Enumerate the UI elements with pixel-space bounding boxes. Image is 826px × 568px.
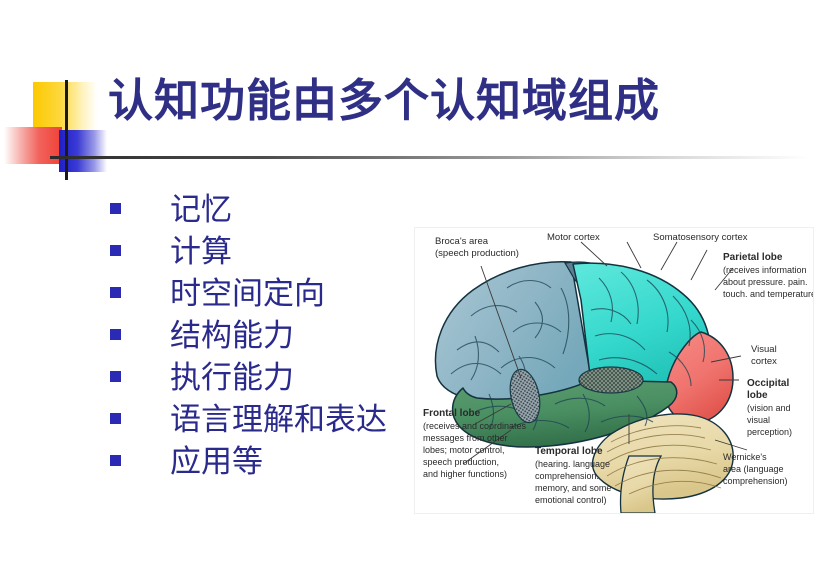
temporal-lobe-desc-4: emotional control)	[535, 495, 607, 505]
parietal-lobe-label: Parietal lobe	[723, 252, 783, 263]
list-item-label: 语言理解和表达	[170, 400, 387, 440]
bullet-square-icon	[110, 371, 121, 382]
list-item: 时空间定向	[110, 274, 410, 316]
bullet-square-icon	[110, 455, 121, 466]
ornament-blue-block	[59, 130, 107, 172]
occipital-lobe-label-2: lobe	[747, 390, 768, 401]
slide-canvas: 认知功能由多个认知域组成 记忆 计算 时空间定向 结构能力 执行能力 语言理解和…	[0, 0, 826, 568]
frontal-lobe-desc-2: messages from other	[423, 433, 508, 443]
bullet-square-icon	[110, 329, 121, 340]
bullet-square-icon	[110, 203, 121, 214]
list-item: 执行能力	[110, 358, 410, 400]
bullet-square-icon	[110, 245, 121, 256]
title-underline-rule	[50, 156, 810, 159]
list-item-label: 计算	[170, 232, 232, 272]
somatosensory-cortex-label: Somatosensory cortex	[653, 232, 748, 243]
occipital-lobe-desc-2: visual	[747, 415, 770, 425]
motor-cortex-label: Motor cortex	[547, 232, 600, 243]
ornament-vertical-rule	[65, 80, 68, 180]
visual-cortex-label-1: Visual	[751, 344, 777, 355]
wernickes-area-label-2: area (language	[723, 464, 784, 474]
occipital-lobe-label-1: Occipital	[747, 378, 789, 389]
list-item-label: 应用等	[170, 442, 263, 482]
bullet-square-icon	[110, 413, 121, 424]
frontal-lobe-desc-5: and higher functions)	[423, 469, 507, 479]
frontal-lobe-label: Frontal lobe	[423, 408, 481, 419]
parietal-lobe-desc-2: about pressure. pain.	[723, 277, 808, 287]
list-item: 记忆	[110, 190, 410, 232]
occipital-lobe-desc-1: (vision and	[747, 403, 791, 413]
temporal-lobe-desc-3: memory, and some	[535, 483, 611, 493]
list-item: 应用等	[110, 442, 410, 484]
list-item-label: 时空间定向	[170, 274, 325, 314]
list-item: 结构能力	[110, 316, 410, 358]
wernickes-area-label-1: Wernicke's	[723, 452, 767, 462]
brocas-area-label: Broca's area	[435, 236, 489, 247]
cognitive-domain-list: 记忆 计算 时空间定向 结构能力 执行能力 语言理解和表达 应用等	[110, 190, 410, 484]
frontal-lobe-desc-1: (receives and coordinates	[423, 421, 527, 431]
occipital-lobe-desc-3: perception)	[747, 427, 792, 437]
list-item: 计算	[110, 232, 410, 274]
list-item-label: 执行能力	[170, 358, 294, 398]
brain-lobes-figure: Broca's area (speech production) Motor c…	[414, 227, 814, 514]
bullet-square-icon	[110, 287, 121, 298]
wernickes-area-label-3: comprehension)	[723, 476, 788, 486]
list-item-label: 结构能力	[170, 316, 294, 356]
wernickes-area-patch	[579, 367, 643, 393]
parietal-lobe-desc-3: touch. and temperature)	[723, 289, 813, 299]
page-title: 认知功能由多个认知域组成	[108, 74, 660, 128]
frontal-lobe-desc-3: lobes; motor control,	[423, 445, 505, 455]
visual-cortex-label-2: cortex	[751, 356, 777, 367]
parietal-lobe-desc-1: (receives information	[723, 265, 807, 275]
brocas-area-sublabel: (speech production)	[435, 248, 519, 259]
list-item: 语言理解和表达	[110, 400, 410, 442]
temporal-lobe-desc-2: comprehension.	[535, 471, 599, 481]
temporal-lobe-label: Temporal lobe	[535, 446, 603, 457]
ornament-yellow-block	[33, 82, 97, 132]
frontal-lobe-desc-4: speech production,	[423, 457, 499, 467]
list-item-label: 记忆	[170, 190, 232, 230]
temporal-lobe-desc-1: (hearing. language	[535, 459, 610, 469]
